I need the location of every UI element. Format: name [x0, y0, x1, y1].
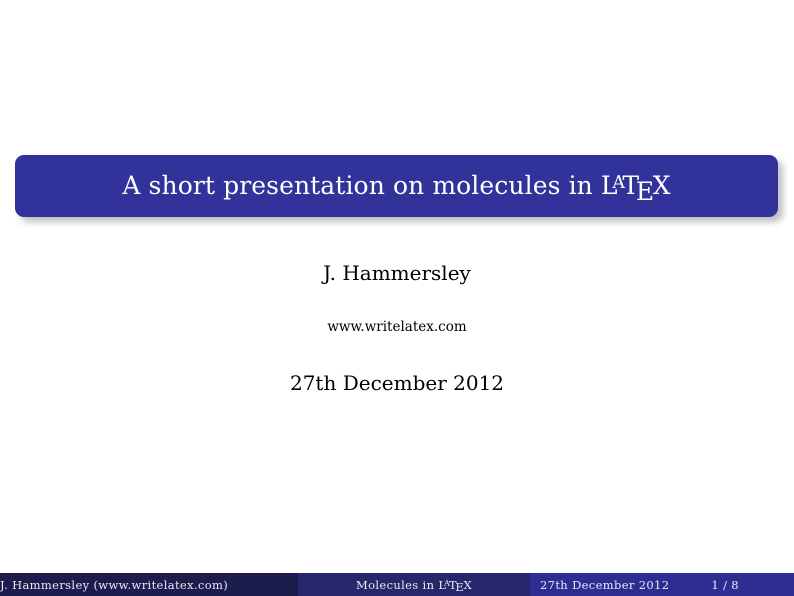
- footer-title-label: Molecules in LATEX: [356, 578, 472, 592]
- footer-author-segment: J. Hammersley (www.writelatex.com): [0, 573, 298, 596]
- footer-page-number: 1 / 8: [711, 578, 739, 592]
- footer-title-text: Molecules in: [356, 578, 438, 592]
- latex-logo-a: A: [612, 173, 625, 193]
- slide-title-box: A short presentation on molecules in LAT…: [15, 155, 778, 217]
- slide-footer: J. Hammersley (www.writelatex.com) Molec…: [0, 573, 794, 596]
- footer-date-label: 27th December 2012: [540, 578, 669, 592]
- footer-latex-logo-x: X: [463, 578, 472, 592]
- page-title: A short presentation on molecules in LAT…: [122, 173, 670, 199]
- page-title-text: A short presentation on molecules in: [122, 171, 601, 200]
- footer-title-segment: Molecules in LATEX: [298, 573, 530, 596]
- presentation-slide: A short presentation on molecules in LAT…: [0, 0, 794, 596]
- footer-author-label: J. Hammersley (www.writelatex.com): [0, 578, 228, 592]
- institute-url: www.writelatex.com: [0, 283, 794, 335]
- latex-logo-x: X: [653, 171, 671, 200]
- title-meta-block: J. Hammersley www.writelatex.com 27th De…: [0, 255, 794, 393]
- footer-date-page-segment: 27th December 2012 1 / 8: [530, 573, 794, 596]
- footer-latex-logo: LATEX: [438, 578, 472, 592]
- latex-logo-e: E: [636, 177, 654, 206]
- footer-latex-logo-e: E: [455, 580, 464, 594]
- latex-logo: LATEX: [601, 171, 671, 200]
- presentation-date: 27th December 2012: [0, 335, 794, 393]
- footer-latex-logo-a: A: [444, 579, 450, 588]
- author-name: J. Hammersley: [0, 255, 794, 283]
